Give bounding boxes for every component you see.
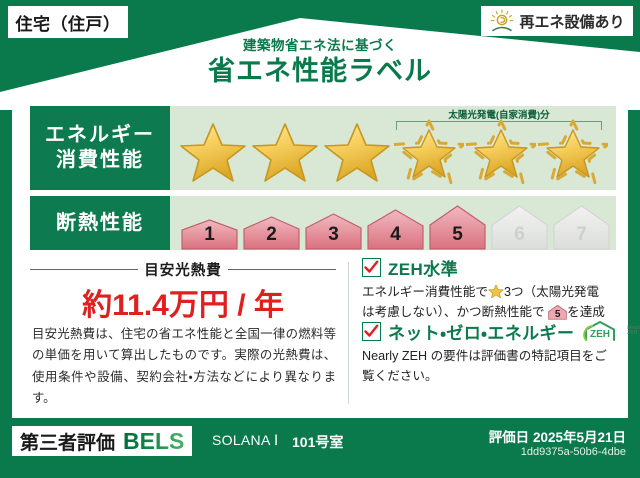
star-filled	[322, 118, 392, 184]
star-rating	[178, 118, 608, 184]
check-icon	[364, 260, 379, 275]
energy-performance-row: エネルギー 消費性能 太陽光発電(自家消費)分	[30, 106, 616, 190]
bels-certification-badge: 第三者評価 BELS	[12, 426, 192, 456]
energy-performance-label: 住宅（住戸） 再エネ設備あり 建築物省エネ法に基づく 省	[0, 0, 640, 478]
title-subtitle: 建築物省エネ法に基づく	[0, 38, 640, 54]
insulation-label-text: 断熱性能	[56, 211, 144, 235]
housing-type-chip: 住宅（住戸）	[8, 6, 128, 38]
evaluation-id: 1dd9375a-50b6-4dbe	[521, 446, 626, 458]
criterion-zeh-level: ZEH水準 エネルギー消費性能で3つ（太陽光発電 は考慮しない）、かつ断熱性能で…	[362, 256, 640, 323]
energy-label-line2: 消費性能	[56, 148, 144, 173]
checkbox-checked-net-zero-energy	[362, 322, 381, 341]
criterion-text-part1: エネルギー消費性能で	[362, 285, 488, 299]
insulation-level-number: 1	[180, 224, 239, 246]
insulation-performance-label: 断熱性能	[30, 196, 170, 250]
bels-logo-text: BELS	[123, 428, 184, 455]
criterion-net-zero-energy: ネット・ゼロ・エネルギー ZEH Nearly ZEH Nearly ZEH の…	[362, 320, 640, 387]
criterion-description: Nearly ZEH の要件は評価書の特記項目をご 覧ください。	[362, 346, 640, 387]
insulation-level-number: 4	[366, 224, 425, 246]
criterion-header: ZEH水準	[362, 256, 640, 278]
criterion-description: エネルギー消費性能で3つ（太陽光発電 は考慮しない）、かつ断熱性能で 5 を達成	[362, 282, 640, 323]
criterion-title: ZEH水準	[388, 255, 458, 280]
estimated-utility-cost-note: 目安光熱費は、住宅の省エネ性能と全国一律の燃料等の単価を用いて算出したものです。…	[32, 324, 336, 409]
insulation-performance-row: 断熱性能 1	[30, 196, 616, 250]
svg-text:ZEH: ZEH	[590, 329, 610, 340]
heading-rule-left	[30, 269, 138, 270]
column-divider	[348, 262, 349, 404]
insulation-level-badge-inactive: 6	[490, 200, 549, 250]
zeh-logo-caption: Nearly ZEH	[627, 326, 640, 337]
estimated-utility-cost-amount: 約11.4万円 / 年	[30, 280, 336, 324]
building-name: SOLANA Ⅰ	[212, 432, 278, 449]
renewable-equipment-text: 再エネ設備あり	[519, 11, 624, 32]
insulation-level-badge-inactive: 7	[552, 200, 611, 250]
star-solar	[538, 118, 608, 184]
insulation-level-scale: 1 2 3	[180, 200, 611, 250]
criterion-text-part2: 3つ（太陽光発電	[504, 285, 599, 299]
insulation-level-badge: 3	[304, 204, 363, 250]
insulation-level-number: 5	[428, 224, 487, 246]
title-main: 省エネ性能ラベル	[0, 55, 640, 89]
check-icon	[364, 324, 379, 339]
estimated-utility-cost-title: 目安光熱費	[144, 259, 222, 280]
heading-rule-right	[228, 269, 336, 270]
star-icon	[488, 283, 504, 299]
insulation-level-number: 3	[304, 224, 363, 246]
estimated-utility-cost-heading: 目安光熱費	[30, 260, 336, 278]
evaluation-date: 評価日 2025年5月21日	[489, 426, 626, 446]
star-filled	[178, 118, 248, 184]
sun-icon	[489, 9, 515, 33]
star-filled	[250, 118, 320, 184]
insulation-level-badge: 4	[366, 202, 425, 250]
star-solar	[394, 118, 464, 184]
insulation-level-number: 2	[242, 224, 301, 246]
criterion-text-part1: Nearly ZEH の要件は評価書の特記項目をご	[362, 349, 607, 363]
bels-japanese-text: 第三者評価	[20, 428, 115, 455]
energy-performance-label: エネルギー 消費性能	[30, 106, 170, 190]
energy-performance-rating: 太陽光発電(自家消費)分	[170, 106, 616, 190]
criterion-header: ネット・ゼロ・エネルギー ZEH Nearly ZEH	[362, 320, 640, 342]
insulation-performance-rating: 1 2 3	[170, 196, 616, 250]
footer-bar: 第三者評価 BELS SOLANA Ⅰ 101号室 評価日 2025年5月21日…	[0, 418, 640, 478]
housing-type-text: 住宅（住戸）	[16, 10, 121, 35]
label-title: 建築物省エネ法に基づく 省エネ性能ラベル	[0, 38, 640, 89]
insulation-level-badge: 5	[428, 200, 487, 250]
energy-label-line1: エネルギー	[45, 123, 155, 148]
insulation-level-number: 7	[552, 224, 611, 246]
zeh-house-logo-icon: ZEH	[581, 320, 619, 342]
insulation-level-badge: 2	[242, 206, 301, 250]
criterion-text-part2: 覧ください。	[362, 369, 438, 383]
content-panel: エネルギー 消費性能 太陽光発電(自家消費)分	[12, 96, 628, 418]
insulation-level-number: 6	[490, 224, 549, 246]
checkbox-checked-zeh-level	[362, 258, 381, 277]
star-solar	[466, 118, 536, 184]
renewable-equipment-chip: 再エネ設備あり	[481, 6, 633, 36]
criterion-title: ネット・ゼロ・エネルギー	[388, 319, 574, 344]
insulation-level-badge: 1	[180, 208, 239, 250]
room-number: 101号室	[292, 432, 343, 452]
criterion-text-part3: は考慮しない）、かつ断熱性能で	[362, 305, 545, 319]
criterion-text-part4: を達成	[567, 305, 605, 319]
